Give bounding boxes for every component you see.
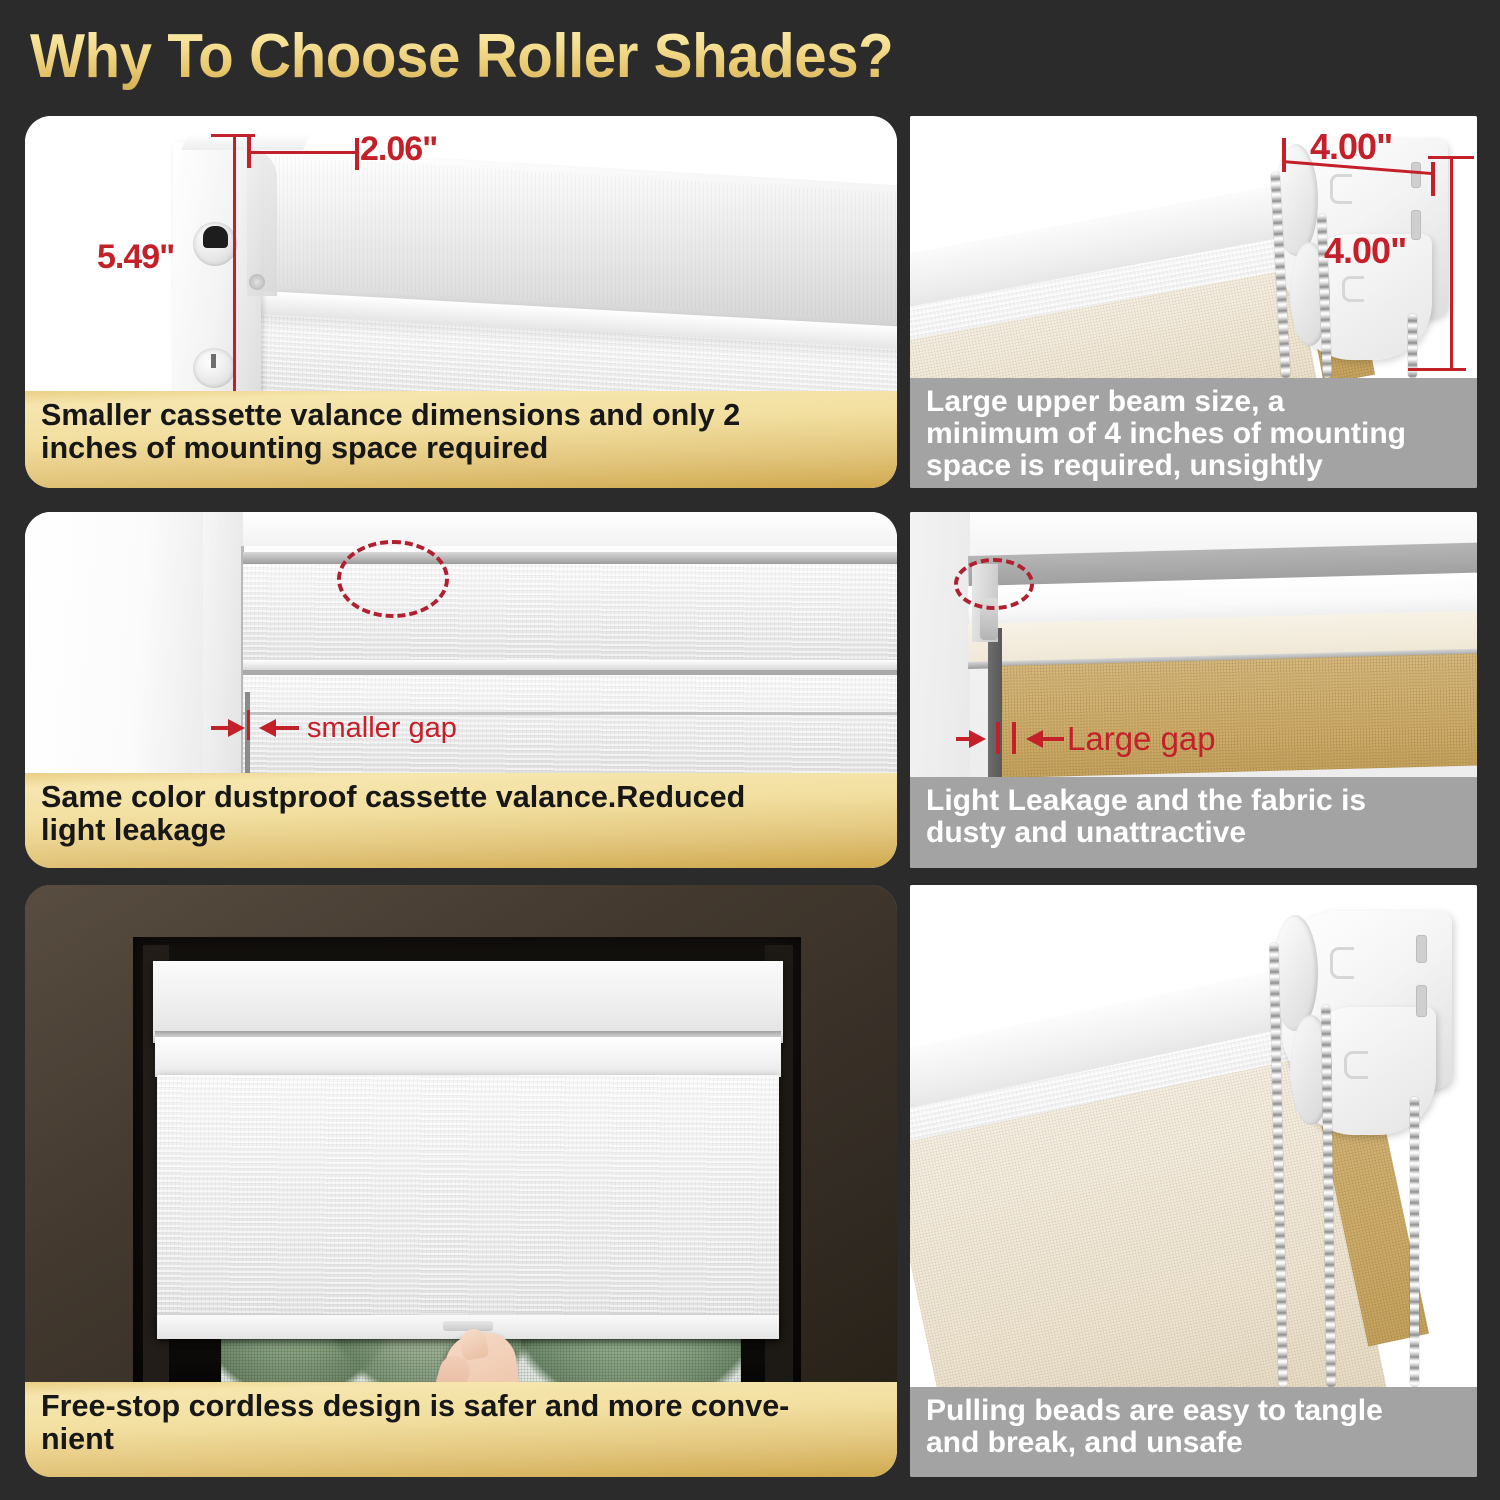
gap-tick-left [996,722,1000,754]
gap-arrow-left-icon [1026,730,1043,748]
screw-boss-icon [249,274,265,290]
panel-2-caption: Large upper beam size, a minimum of 4 in… [910,378,1477,488]
bracket-slot-icon [1411,210,1421,240]
beam-height-line [1450,156,1453,370]
bead-chain [1410,1097,1419,1387]
infographic-page: Why To Choose Roller Shades? [0,0,1500,1500]
page-title: Why To Choose Roller Shades? [30,18,1064,96]
panel-cordless-design: Free-stop cordless design is safer and m… [25,885,897,1477]
beam-height-tick-top [1428,156,1474,159]
caption-line: Pulling beads are easy to tangle [926,1395,1463,1427]
panel-smaller-cassette: 2.06" 5.49" Smaller cassette valance dim… [25,116,897,488]
gap-tick-right [1012,722,1016,754]
bracket-slot-icon [1416,985,1427,1017]
panel-3-photo: smaller gap [25,512,897,773]
caption-line: space is required, unsightly [926,450,1463,482]
window-frame-jamb [25,512,203,773]
caption-line: Same color dustproof cassette valance.Re… [41,781,870,814]
panel-5-photo [25,885,897,1382]
panel-large-upper-beam: 4.00" 4.00" Large upper beam size, a min… [910,116,1477,488]
width-dim-tick-right [355,138,359,170]
bracket-hook-icon [1330,174,1352,204]
caption-line: minimum of 4 inches of mounting [926,418,1463,450]
height-dim-line [233,134,236,391]
fabric-tan [998,653,1477,777]
panel-dustproof-cassette: smaller gap Same color dustproof cassett… [25,512,897,868]
light-gap-column [988,628,1002,777]
caption-line: inches of mounting space required [41,432,870,465]
gap-arrow-right-icon [969,730,986,748]
panel-1-caption: Smaller cassette valance dimensions and … [25,391,897,488]
gap-arrow-left-icon [259,719,276,737]
width-dim-label: 2.06" [360,130,437,169]
bracket-hook-icon [1344,1051,1368,1079]
height-dim-tick-top [211,134,255,137]
caption-line: dusty and unattractive [926,817,1463,849]
panel-3-caption: Same color dustproof cassette valance.Re… [25,773,897,868]
panel-1-photo: 2.06" 5.49" [25,116,897,391]
panel-light-leakage: Large gap Light Leakage and the fabric i… [910,512,1477,868]
gap-arrow-stem-right [275,726,299,730]
beam-height-label: 4.00" [1324,230,1406,272]
bracket-hook-icon [1330,947,1354,979]
panel-4-caption: Light Leakage and the fabric is dusty an… [910,777,1477,868]
beam-width-tick-left [1282,138,1286,172]
gap-callout-label: smaller gap [307,712,457,745]
height-dim-label: 5.49" [97,238,174,277]
bracket-hook-icon [1342,276,1364,302]
gap-highlight-ring [954,558,1034,610]
caption-line: light leakage [41,814,870,847]
shade-fabric [157,1075,779,1333]
caption-line: Free-stop cordless design is safer and m… [41,1390,870,1423]
panel-6-photo [910,885,1477,1387]
gap-callout-label: Large gap [1067,720,1216,758]
caption-line: Light Leakage and the fabric is [926,785,1463,817]
panel-4-photo: Large gap [910,512,1477,777]
valance-lower-lip [155,1037,781,1077]
panel-2-photo: 4.00" 4.00" [910,116,1477,378]
caption-line: nient [41,1423,870,1456]
caption-line: Large upper beam size, a [926,386,1463,418]
width-dim-line [247,151,359,154]
caption-line: Smaller cassette valance dimensions and … [41,399,870,432]
beam-height-tick-bottom [1408,368,1466,371]
beam-width-tick-right [1431,162,1435,196]
gap-tick-left [247,710,250,740]
beam-width-label: 4.00" [1310,126,1392,168]
clutch-socket-hole [203,226,228,248]
panel-pulling-beads: Pulling beads are easy to tangle and bre… [910,885,1477,1477]
caption-line: and break, and unsafe [926,1427,1463,1459]
gap-highlight-ring [337,540,449,618]
panel-5-caption: Free-stop cordless design is safer and m… [25,1382,897,1477]
bracket-slot-icon [1411,162,1421,188]
gap-arrow-stem-right [1042,737,1064,741]
panel-6-caption: Pulling beads are easy to tangle and bre… [910,1387,1477,1477]
gap-arrow-right-icon [228,719,245,737]
idler-pin-slot [211,354,216,368]
end-cap-bevel [247,148,277,296]
bracket-slot-icon [1416,935,1427,963]
